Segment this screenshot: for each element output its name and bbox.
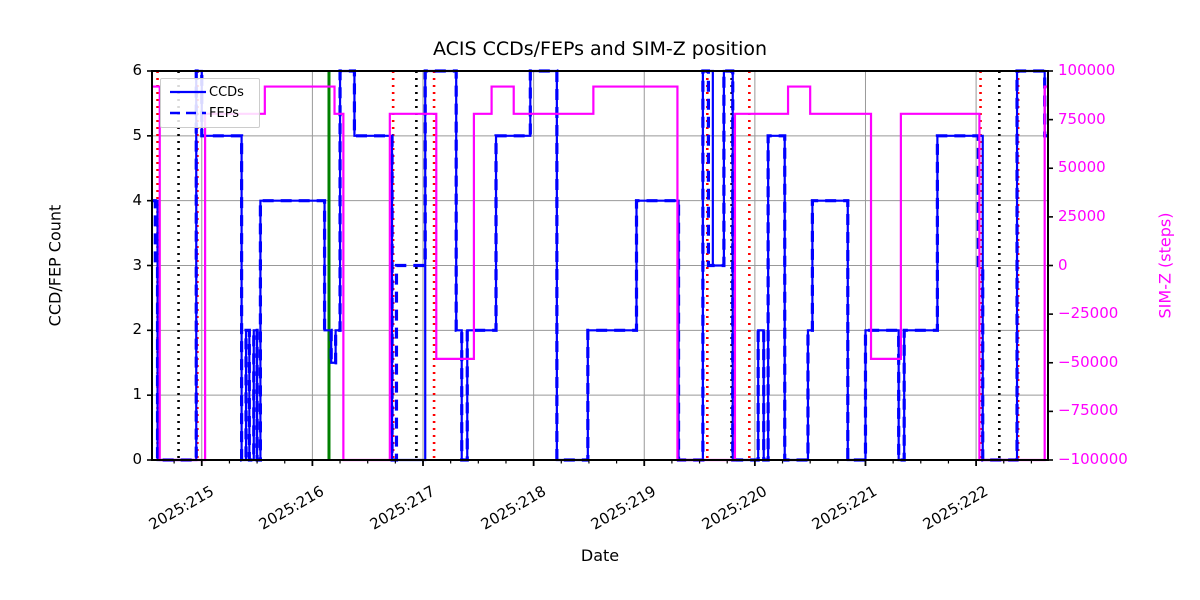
ytick-label-right: −25000 bbox=[1058, 304, 1118, 322]
ytick-label-right: 0 bbox=[1058, 256, 1068, 274]
ytick-label-right: 75000 bbox=[1058, 110, 1106, 128]
chart-figure: ACIS CCDs/FEPs and SIM-Z position CCD/FE… bbox=[0, 0, 1200, 600]
ytick-label-right: 50000 bbox=[1058, 158, 1106, 176]
ytick-label-left: 0 bbox=[90, 450, 142, 468]
ytick-label-right: 100000 bbox=[1058, 61, 1115, 79]
ytick-label-right: −75000 bbox=[1058, 401, 1118, 419]
ytick-label-right: −50000 bbox=[1058, 353, 1118, 371]
ytick-label-left: 3 bbox=[90, 256, 142, 274]
ytick-label-left: 5 bbox=[90, 126, 142, 144]
ytick-label-left: 1 bbox=[90, 385, 142, 403]
legend-label-ccds: CCDs bbox=[209, 85, 244, 100]
grid-lines bbox=[152, 71, 1048, 460]
ytick-label-right: 25000 bbox=[1058, 207, 1106, 225]
ytick-label-left: 6 bbox=[90, 61, 142, 79]
ytick-label-left: 2 bbox=[90, 320, 142, 338]
legend-label-feps: FEPs bbox=[209, 106, 239, 121]
ytick-label-left: 4 bbox=[90, 191, 142, 209]
axis-ticks bbox=[147, 71, 1053, 466]
series-sim-z bbox=[152, 87, 1048, 460]
ytick-label-right: −100000 bbox=[1058, 450, 1128, 468]
